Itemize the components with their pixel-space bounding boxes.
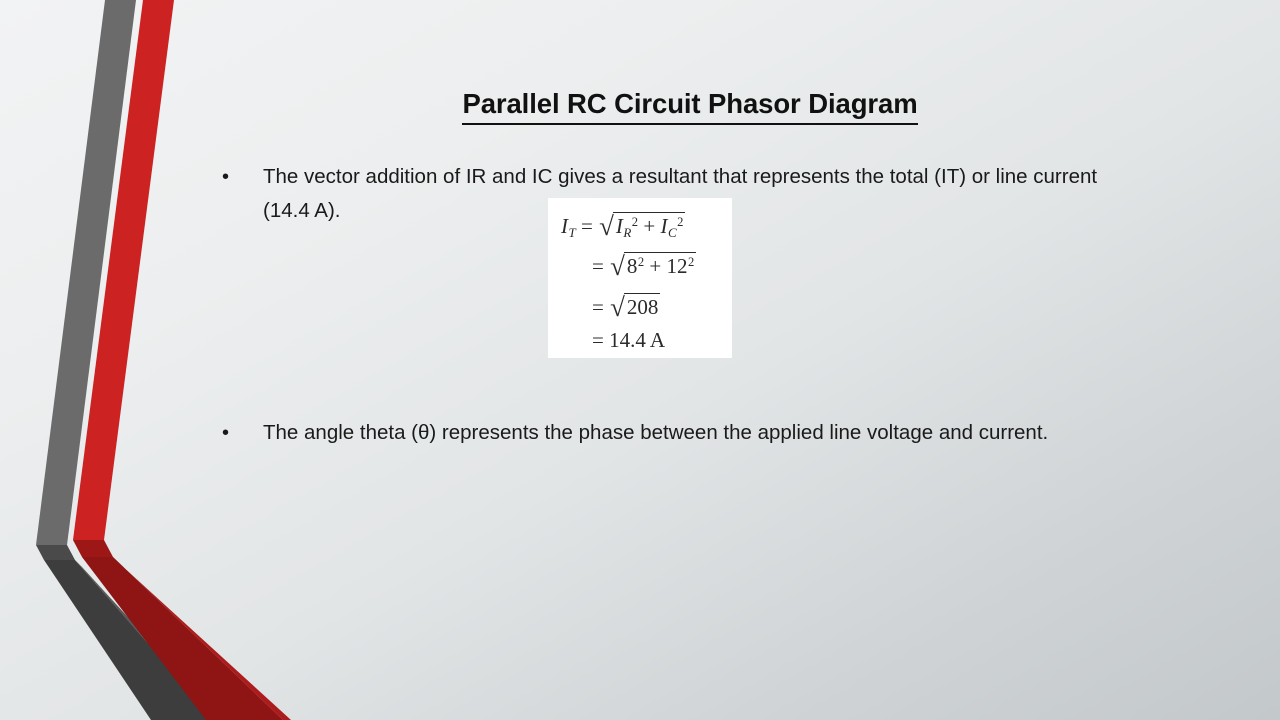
red-ribbon-lower-highlight — [113, 557, 291, 720]
red-ribbon-upper — [73, 0, 174, 540]
formula-symbol-it: I — [561, 214, 568, 238]
formula-radicand-1: IR2 + IC2 — [613, 212, 686, 241]
formula-subscript-c: C — [668, 225, 677, 240]
formula-subscript-t: T — [569, 225, 576, 240]
bullet-item-2: • The angle theta (θ) represents the pha… — [218, 416, 1148, 450]
red-ribbon-lower — [82, 557, 283, 720]
gray-ribbon-fold — [36, 545, 75, 560]
formula-equals: = — [592, 328, 604, 352]
formula-superscript-2a: 2 — [632, 215, 638, 229]
bullet-text: The angle theta (θ) represents the phase… — [263, 416, 1148, 450]
formula-superscript-2c: 2 — [638, 255, 644, 269]
formula-line-3: = √208 — [592, 293, 660, 320]
formula-plus: + — [649, 254, 661, 278]
formula-plus: + — [643, 214, 655, 238]
formula-line-4: = 14.4 A — [592, 328, 665, 353]
formula-equals: = — [592, 254, 604, 278]
formula-superscript-2d: 2 — [688, 255, 694, 269]
page-title-text: Parallel RC Circuit Phasor Diagram — [462, 88, 917, 125]
formula-symbol-ir: I — [616, 214, 623, 238]
gray-ribbon-lower — [44, 560, 215, 720]
formula-image: IT = √IR2 + IC2 = √82 + 122 = √208 = 14.… — [548, 198, 732, 358]
formula-result-value: 14.4 A — [609, 328, 665, 352]
formula-radicand-3: 208 — [624, 293, 661, 320]
radical-sign-icon: √ — [610, 251, 625, 281]
red-ribbon-fold — [73, 540, 113, 557]
formula-superscript-2b: 2 — [677, 215, 683, 229]
formula-radical-2: √82 + 122 — [609, 252, 696, 279]
formula-line-1: IT = √IR2 + IC2 — [561, 212, 685, 241]
formula-equals: = — [581, 214, 593, 238]
bullet-marker: • — [218, 416, 263, 450]
formula-term-12: 12 — [666, 254, 687, 278]
gray-ribbon-upper — [36, 0, 136, 545]
formula-radical-3: √208 — [609, 293, 660, 320]
formula-line-2: = √82 + 122 — [592, 252, 696, 279]
formula-term-8: 8 — [627, 254, 638, 278]
formula-subscript-r: R — [623, 225, 631, 240]
page-title: Parallel RC Circuit Phasor Diagram — [180, 88, 1200, 125]
formula-radicand-2: 82 + 122 — [624, 252, 696, 279]
formula-radical-1: √IR2 + IC2 — [598, 212, 685, 241]
formula-equals: = — [592, 295, 604, 319]
gray-ribbon-lower-highlight — [75, 560, 222, 720]
bullet-marker: • — [218, 160, 263, 194]
radical-sign-icon: √ — [610, 292, 625, 322]
radical-sign-icon: √ — [599, 211, 614, 241]
formula-symbol-ic: I — [660, 214, 667, 238]
slide-canvas: Parallel RC Circuit Phasor Diagram • The… — [0, 0, 1280, 720]
